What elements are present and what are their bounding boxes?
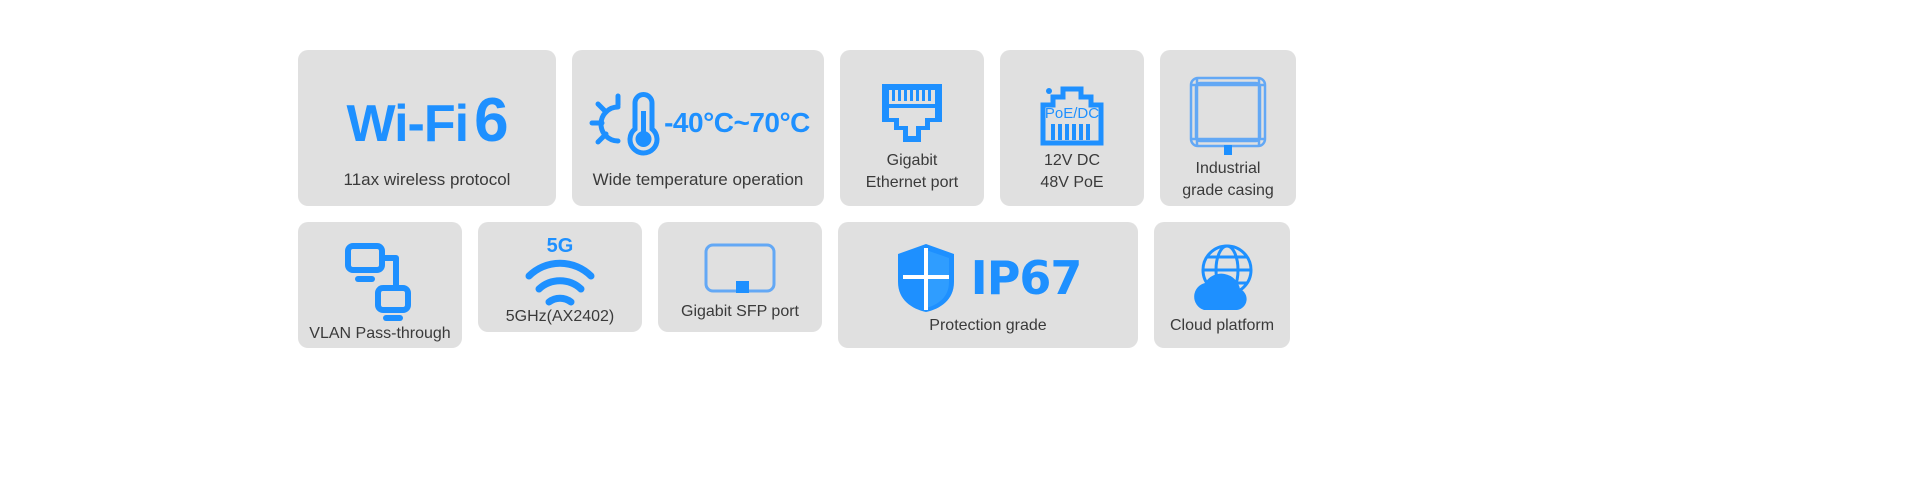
feature-card-wifi6[interactable]: Wi-Fi 6 11ax wireless protocol xyxy=(298,50,556,206)
vlan-network-nodes-icon xyxy=(338,240,422,324)
feature-card-vlan[interactable]: VLAN Pass-through xyxy=(298,222,462,348)
feature-grid: Wi-Fi 6 11ax wireless protocol xyxy=(0,0,1920,479)
feature-card-5ghz[interactable]: 5G 5GHz(AX2402) xyxy=(478,222,642,332)
sfp-port-icon xyxy=(702,241,778,299)
feature-card-sfp[interactable]: Gigabit SFP port xyxy=(658,222,822,332)
feature-card-ethernet[interactable]: Gigabit Ethernet port xyxy=(840,50,984,206)
feature-label-vlan: VLAN Pass-through xyxy=(298,324,462,344)
feature-label-sfp: Gigabit SFP port xyxy=(658,302,822,322)
feature-row-1: Wi-Fi 6 11ax wireless protocol xyxy=(0,0,1920,206)
temperature-range-text: -40°C~70°C xyxy=(664,107,810,139)
feature-card-poe[interactable]: PoE/DC 12V DC 48V PoE xyxy=(1000,50,1144,206)
feature-row-2: VLAN Pass-through 5G xyxy=(0,206,1920,348)
feature-label-wifi6: 11ax wireless protocol xyxy=(298,170,556,190)
poe-dc-port-icon: PoE/DC xyxy=(1037,77,1107,149)
wifi-6-wordmark-icon: Wi-Fi 6 xyxy=(298,76,556,170)
feature-label-temperature: Wide temperature operation xyxy=(572,170,824,190)
feature-label-poe: 12V DC 48V PoE xyxy=(1000,150,1144,194)
feature-card-temperature[interactable]: -40°C~70°C Wide temperature operation xyxy=(572,50,824,206)
sun-thermometer-icon xyxy=(586,87,662,159)
wifi6-generation-number: 6 xyxy=(474,93,507,149)
ip67-rating-text: IP67 xyxy=(971,255,1082,301)
feature-label-cloud: Cloud platform xyxy=(1154,316,1290,336)
cloud-globe-icon xyxy=(1182,242,1262,314)
five-g-badge-text: 5G xyxy=(547,236,574,256)
shield-icon xyxy=(895,241,957,315)
rj45-ethernet-port-icon xyxy=(879,78,945,148)
industrial-casing-icon xyxy=(1183,72,1273,158)
feature-card-casing[interactable]: Industrial grade casing xyxy=(1160,50,1296,206)
wifi6-wordmark-text: Wi-Fi xyxy=(346,94,468,154)
feature-card-ip67[interactable]: IP67 Protection grade xyxy=(838,222,1138,348)
feature-label-5ghz: 5GHz(AX2402) xyxy=(478,307,642,327)
svg-text:PoE/DC: PoE/DC xyxy=(1045,105,1099,122)
feature-label-ip67: Protection grade xyxy=(838,316,1138,336)
wifi-signal-icon xyxy=(524,257,596,307)
feature-label-casing: Industrial grade casing xyxy=(1160,158,1296,202)
feature-card-cloud[interactable]: Cloud platform xyxy=(1154,222,1290,348)
feature-label-ethernet: Gigabit Ethernet port xyxy=(840,150,984,194)
